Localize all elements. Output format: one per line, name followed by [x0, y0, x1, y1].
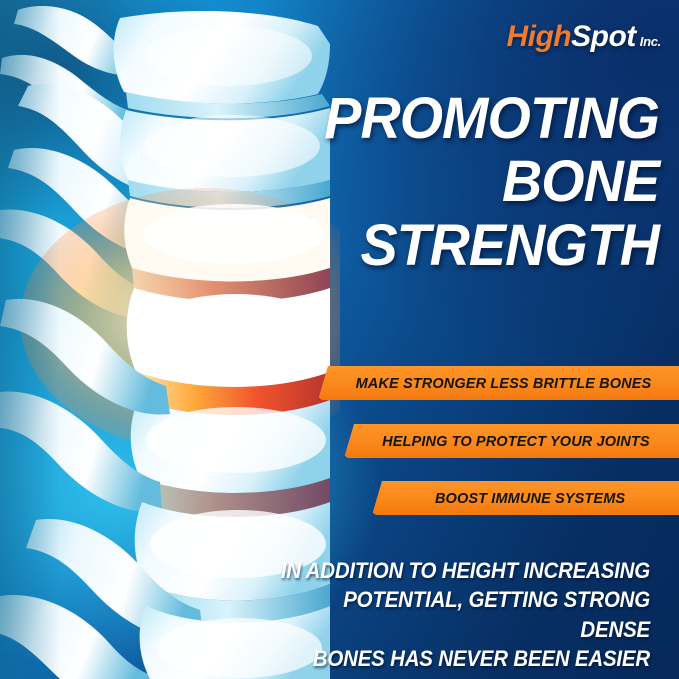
benefit-bar-3-label: BOOST IMMUNE SYSTEMS: [435, 490, 625, 507]
benefit-bar-3[interactable]: BOOST IMMUNE SYSTEMS: [372, 481, 679, 515]
benefit-bar-1[interactable]: MAKE STRONGER LESS BRITTLE BONES: [318, 366, 679, 400]
footer-tagline: IN ADDITION TO HEIGHT INCREASING POTENTI…: [250, 556, 650, 673]
brand-logo: HighSpotInc.: [506, 22, 661, 52]
footer-line-3: BONES HAS NEVER BEEN EASIER: [278, 644, 650, 673]
benefit-bar-2[interactable]: HELPING TO PROTECT YOUR JOINTS: [344, 424, 679, 458]
headline-line-1: PROMOTING: [256, 92, 659, 145]
footer-line-1: IN ADDITION TO HEIGHT INCREASING: [278, 556, 650, 585]
poster-canvas: HighSpotInc. PROMOTING BONE STRENGTH MAK…: [0, 0, 679, 679]
footer-line-2: POTENTIAL, GETTING STRONG DENSE: [278, 585, 650, 644]
headline-line-3: STRENGTH: [256, 219, 659, 272]
benefit-bar-2-label: HELPING TO PROTECT YOUR JOINTS: [382, 433, 650, 450]
brand-suffix: Inc.: [640, 34, 661, 49]
benefit-bar-1-label: MAKE STRONGER LESS BRITTLE BONES: [355, 375, 651, 392]
headline-line-2: BONE: [256, 155, 659, 208]
brand-name-part2: Spot: [571, 20, 636, 53]
page-title: PROMOTING BONE STRENGTH: [239, 92, 659, 272]
brand-name-part1: High: [506, 20, 571, 53]
